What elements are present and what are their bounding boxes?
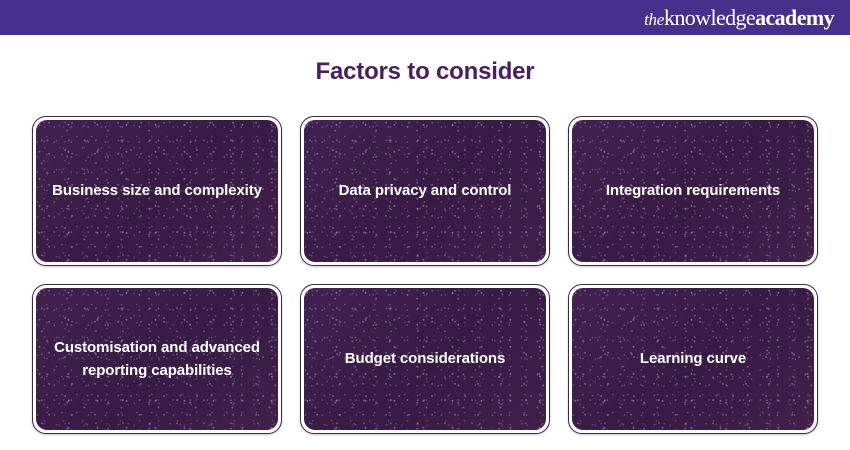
- factor-card-label: Budget considerations: [329, 347, 521, 370]
- card-texture-panel: Budget considerations: [304, 288, 546, 430]
- card-texture-panel: Customisation and advanced reporting cap…: [36, 288, 278, 430]
- header-bar: theknowledgeacademy: [0, 0, 850, 35]
- card-texture-panel: Business size and complexity: [36, 120, 278, 262]
- card-texture-panel: Integration requirements: [572, 120, 814, 262]
- factor-card-business-size-and-complexity: Business size and complexity: [32, 116, 282, 266]
- factor-card-learning-curve: Learning curve: [568, 284, 818, 434]
- logo-word-knowledge: knowledge: [664, 7, 755, 29]
- factor-card-integration-requirements: Integration requirements: [568, 116, 818, 266]
- factor-card-customisation-and-advanced-reporting-capabilities: Customisation and advanced reporting cap…: [32, 284, 282, 434]
- slide-root: theknowledgeacademy Factors to consider …: [0, 0, 850, 450]
- logo-word-academy: academy: [755, 7, 834, 29]
- factors-card-grid: Business size and complexity Data privac…: [32, 116, 818, 434]
- factor-card-label: Integration requirements: [590, 179, 796, 202]
- factor-card-label: Business size and complexity: [36, 179, 278, 202]
- card-texture-panel: Data privacy and control: [304, 120, 546, 262]
- factor-card-label: Data privacy and control: [323, 179, 528, 202]
- factor-card-label: Customisation and advanced reporting cap…: [36, 336, 278, 383]
- factor-card-label: Learning curve: [624, 347, 762, 370]
- theknowledgeacademy-logo: theknowledgeacademy: [644, 7, 834, 29]
- card-texture-panel: Learning curve: [572, 288, 814, 430]
- page-title: Factors to consider: [0, 58, 850, 86]
- factor-card-data-privacy-and-control: Data privacy and control: [300, 116, 550, 266]
- factor-card-budget-considerations: Budget considerations: [300, 284, 550, 434]
- logo-word-the: the: [644, 11, 664, 28]
